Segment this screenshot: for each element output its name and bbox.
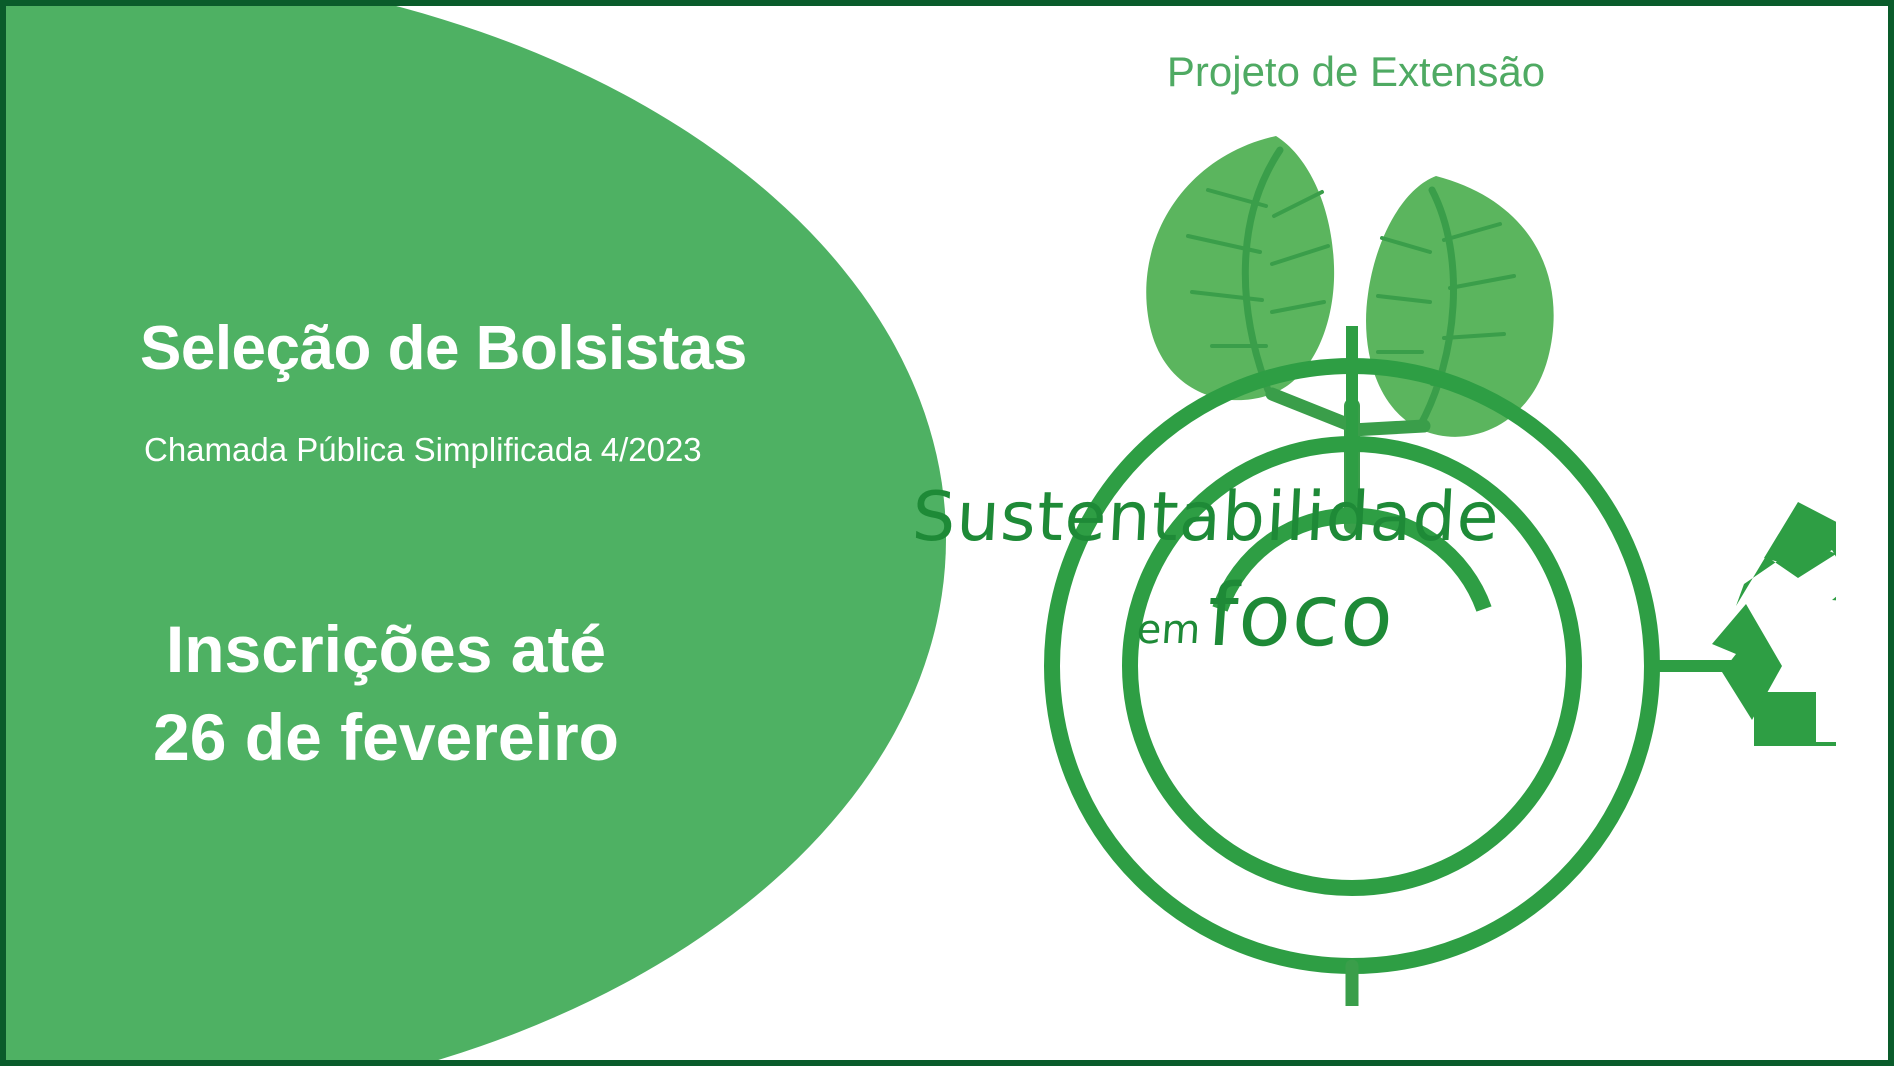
logo-wordmark-foco: foco bbox=[1204, 566, 1398, 666]
logo-area: Projeto de Extensão bbox=[956, 6, 1894, 1066]
page-title: Seleção de Bolsistas bbox=[140, 316, 747, 381]
page-subtitle: Chamada Pública Simplificada 4/2023 bbox=[144, 431, 702, 469]
deadline-line-2: 26 de fevereiro bbox=[6, 694, 766, 782]
recycle-icon bbox=[1712, 502, 1836, 768]
poster-canvas: Seleção de Bolsistas Chamada Pública Sim… bbox=[0, 0, 1894, 1066]
logo-wordmark-main: Sustentabilidade bbox=[819, 478, 1593, 557]
deadline-line-1: Inscrições até bbox=[6, 606, 766, 694]
logo-wordmark-sub: emfoco bbox=[1028, 566, 1505, 666]
left-text-block: Seleção de Bolsistas Chamada Pública Sim… bbox=[6, 6, 796, 1066]
deadline-block: Inscrições até 26 de fevereiro bbox=[6, 606, 766, 782]
logo-wordmark-em: em bbox=[1135, 607, 1202, 653]
project-type-label: Projeto de Extensão bbox=[956, 48, 1756, 96]
